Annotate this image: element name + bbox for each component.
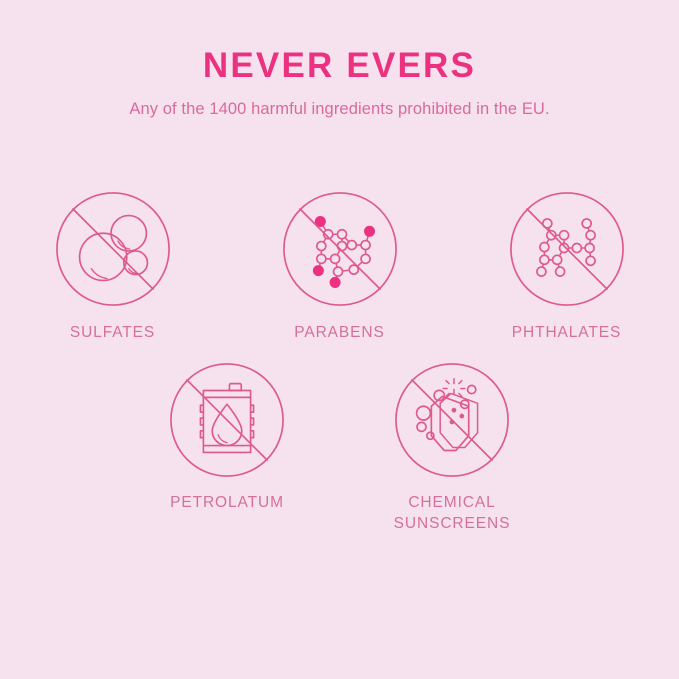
no-sulfates-bubbles-icon [54,190,172,308]
page-title: NEVER EVERS [0,0,679,87]
ingredient-item-sulfates: SULFATES [38,190,188,343]
page-subtitle: Any of the 1400 harmful ingredients proh… [0,87,679,120]
ingredient-row-2: PETROLATUM [0,361,679,534]
ingredient-item-parabens: PARABENS [265,190,415,343]
never-evers-infographic: NEVER EVERS Any of the 1400 harmful ingr… [0,0,679,679]
ingredient-row-1: SULFATES [0,190,679,343]
ingredient-item-chemical-sunscreens: CHEMICAL SUNSCREENS [377,361,527,534]
no-phthalates-molecule-icon [508,190,626,308]
no-chemical-sunscreens-bottle-icon [393,361,511,479]
no-parabens-molecule-icon [281,190,399,308]
ingredient-grid: SULFATES [0,190,679,534]
ingredient-label: PHTHALATES [512,322,622,343]
ingredient-item-phthalates: PHTHALATES [492,190,642,343]
ingredient-item-petrolatum: PETROLATUM [152,361,302,513]
ingredient-label: CHEMICAL SUNSCREENS [394,492,511,534]
no-petrolatum-barrel-icon [168,361,286,479]
header: NEVER EVERS Any of the 1400 harmful ingr… [0,0,679,120]
ingredient-label: SULFATES [70,322,155,343]
ingredient-label: PETROLATUM [170,492,284,513]
ingredient-label: PARABENS [294,322,384,343]
